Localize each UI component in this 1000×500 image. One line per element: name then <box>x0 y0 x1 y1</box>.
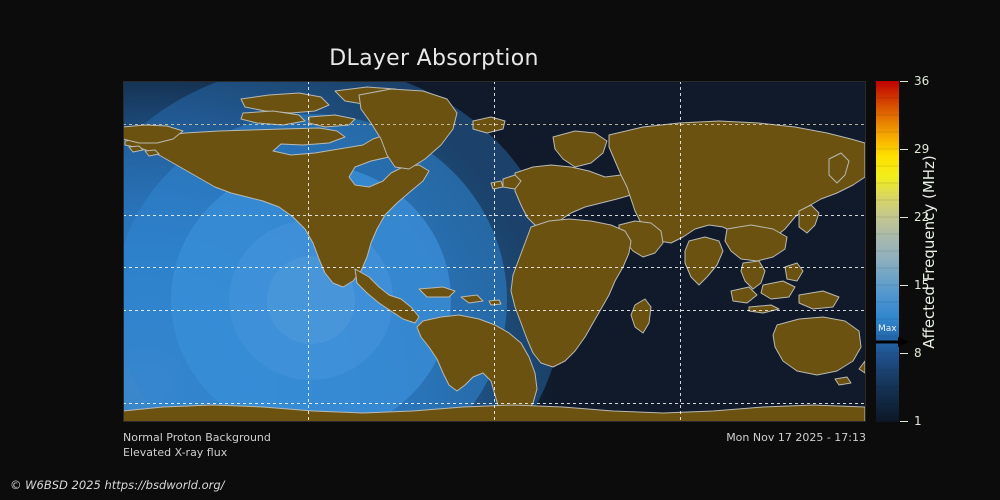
map-svg <box>123 81 866 422</box>
land-ireland <box>491 181 503 189</box>
tick-dash <box>900 217 908 218</box>
tick-dash <box>900 285 908 286</box>
colorbar-gradient <box>876 81 899 422</box>
tick-dash <box>900 421 908 422</box>
copyright-notice: © W6BSD 2025 https://bsdworld.org/ <box>10 478 225 492</box>
figure-canvas: DLayer Absorption <box>0 0 1000 500</box>
tick-dash <box>900 81 908 82</box>
colorbar-axis-label-text: Affected Frequency (MHz) <box>920 155 938 349</box>
map-contents <box>123 81 866 422</box>
colorbar[interactable]: 1 8 15 22 29 36 <box>876 81 899 422</box>
tick-dash <box>900 353 908 354</box>
world-absorption-map[interactable] <box>123 81 866 422</box>
tick-dash <box>900 149 908 150</box>
note-xray-flux: Elevated X-ray flux <box>123 445 543 460</box>
note-proton-background: Normal Proton Background <box>123 430 543 445</box>
page-title: DLayer Absorption <box>0 46 868 71</box>
timestamp: Mon Nov 17 2025 - 17:13 <box>566 430 866 445</box>
status-notes: Normal Proton Background Elevated X-ray … <box>123 430 543 460</box>
colorbar-axis-label: Affected Frequency (MHz) <box>916 81 942 422</box>
